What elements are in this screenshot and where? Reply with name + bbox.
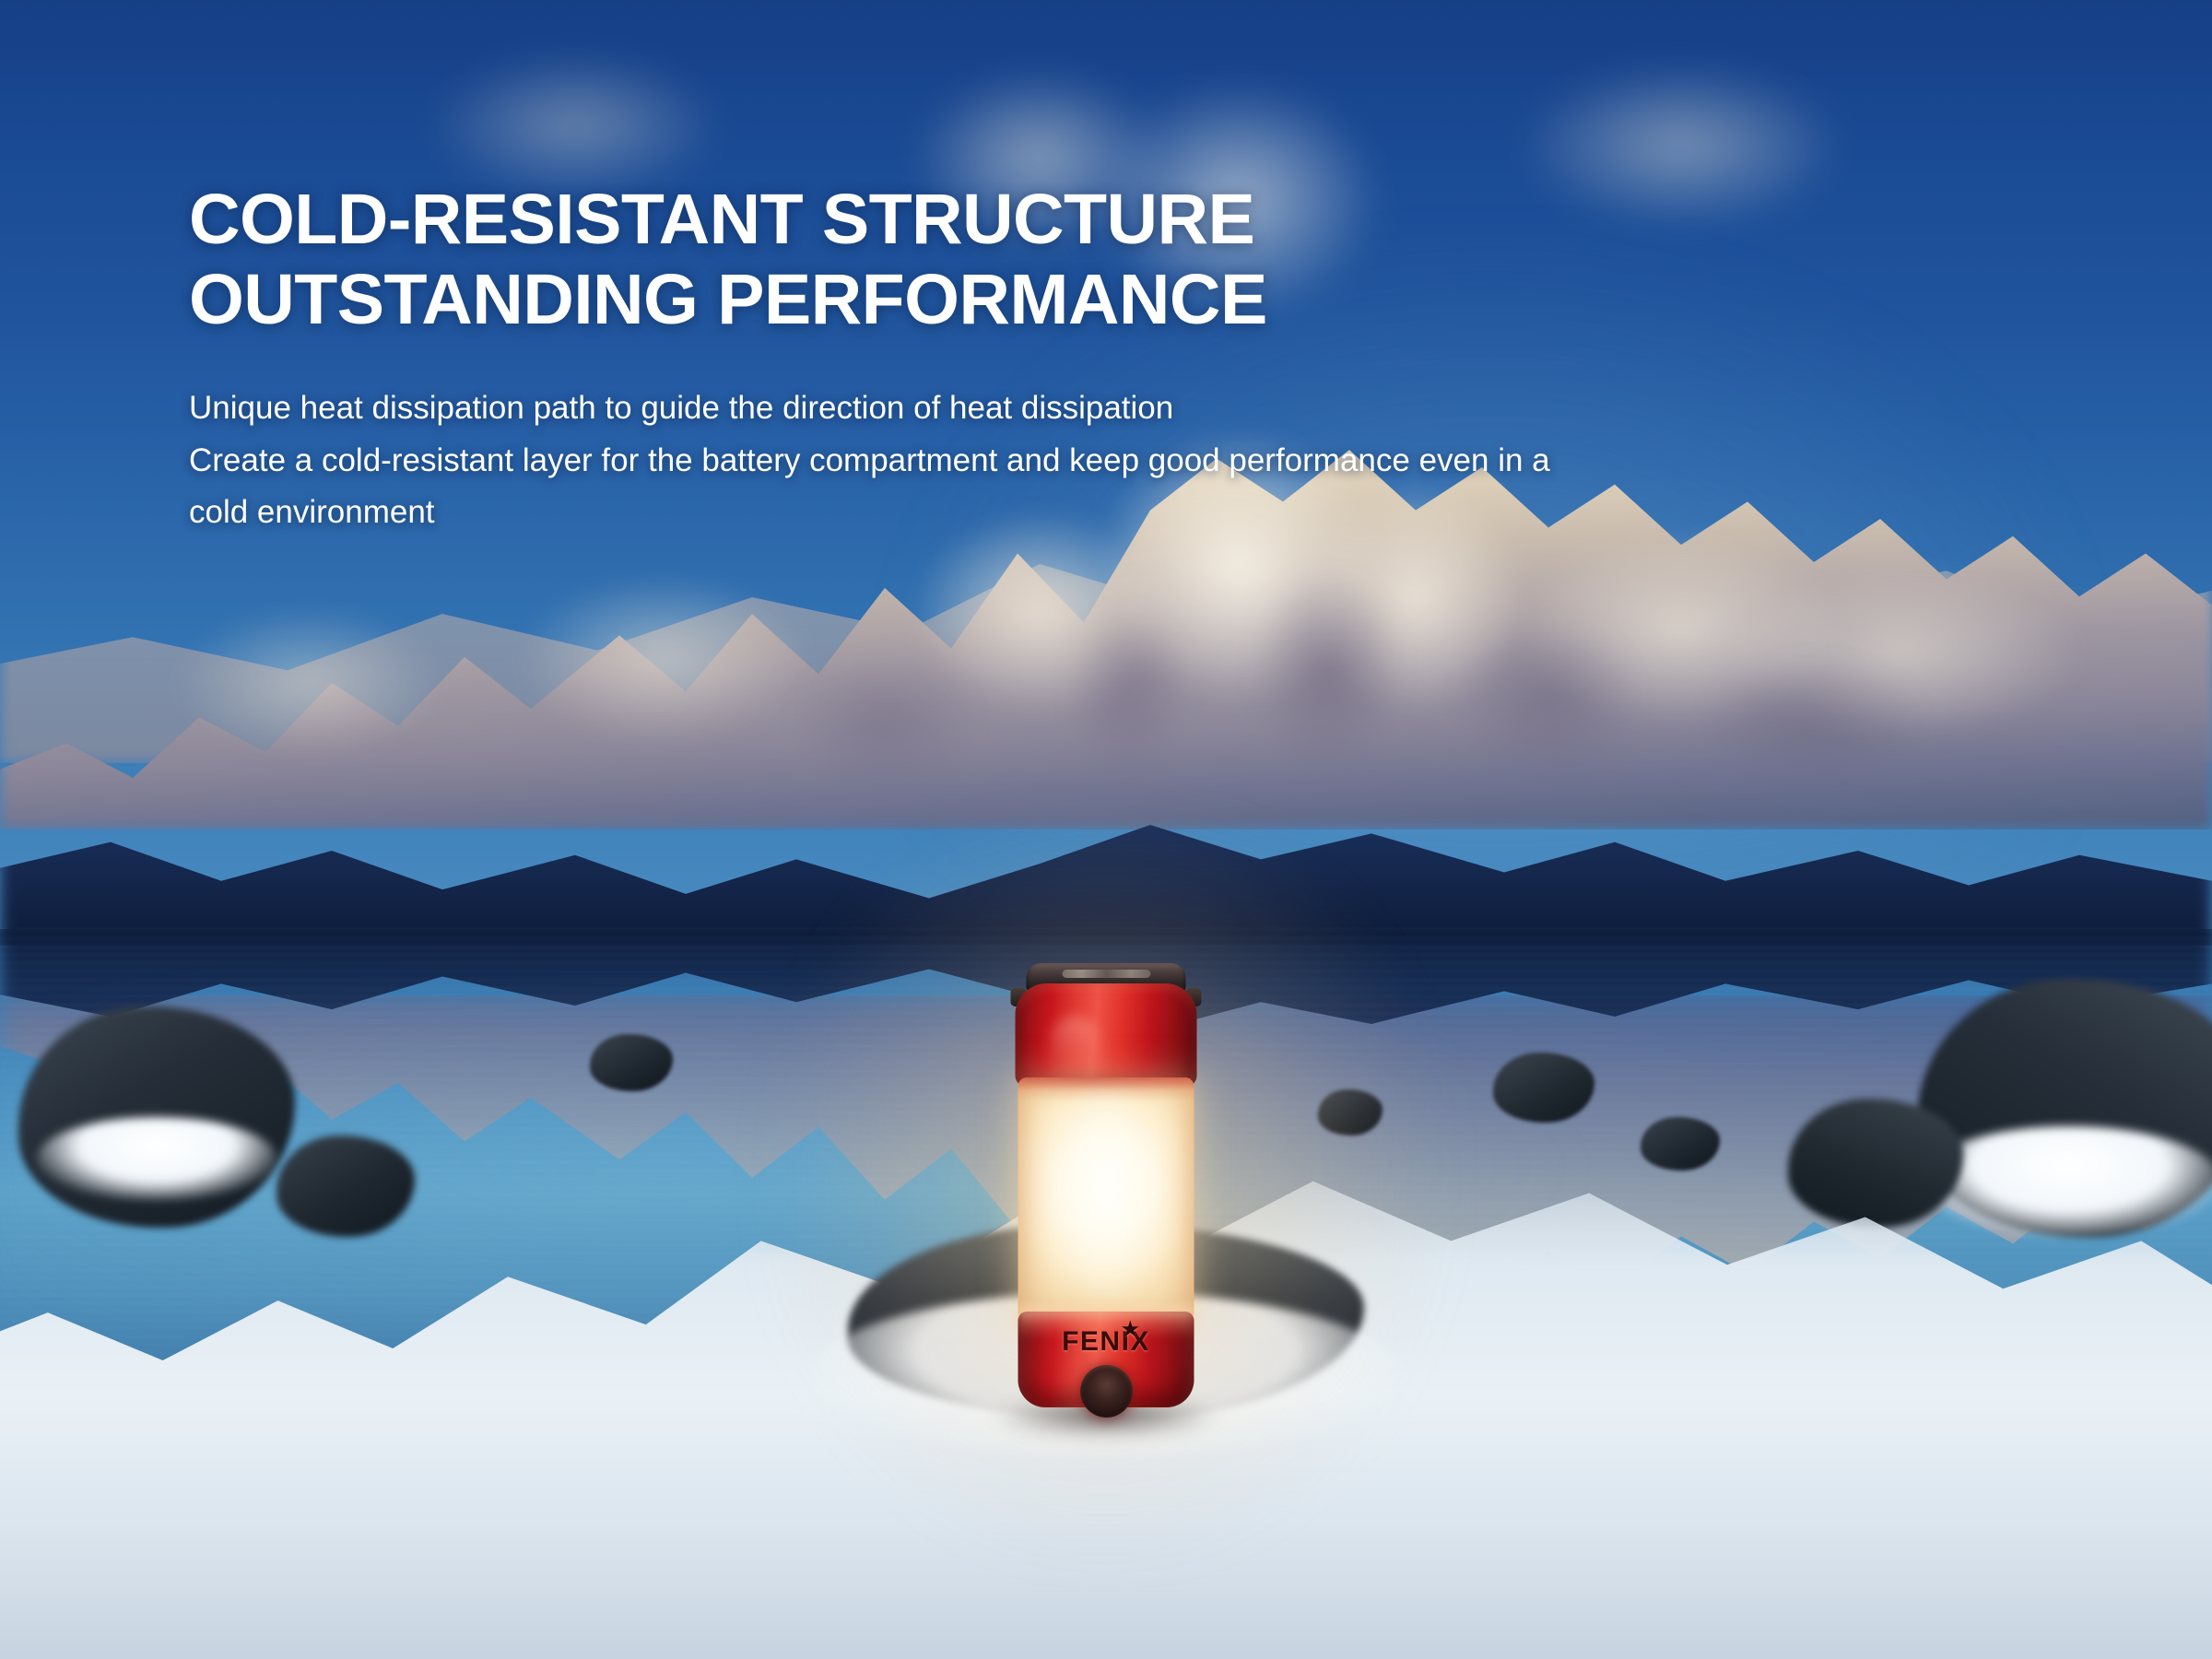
- brand-star-icon: ★: [1122, 1318, 1140, 1341]
- rock-mid-pebble-b: [1318, 1089, 1382, 1135]
- subcopy: Unique heat dissipation path to guide th…: [189, 382, 1986, 539]
- headline-line-1: COLD-RESISTANT STRUCTURE: [189, 180, 1986, 260]
- diffuser-hotspot: [1051, 1101, 1161, 1295]
- vent-grille-icon: [1062, 970, 1150, 978]
- power-button[interactable]: [1080, 1365, 1133, 1418]
- diffuser-top-tint: [1018, 1077, 1194, 1101]
- product-hero-banner: ★ FENIX COLD-RESISTANT STRUCTURE OUTSTAN…: [0, 0, 2212, 1659]
- rock-mid-pebble-a: [590, 1034, 673, 1091]
- rock-mid-pebble-c: [1493, 1053, 1594, 1123]
- headline-line-2: OUTSTANDING PERFORMANCE: [189, 260, 1986, 340]
- subcopy-line-1: Unique heat dissipation path to guide th…: [189, 382, 1986, 435]
- rock-mid-pebble-d: [1641, 1117, 1720, 1171]
- headline: COLD-RESISTANT STRUCTURE OUTSTANDING PER…: [189, 180, 1986, 340]
- brand-logo: ★ FENIX: [1003, 1326, 1210, 1358]
- lantern-red-head: [1016, 983, 1197, 1087]
- subcopy-line-3: cold environment: [189, 487, 1986, 539]
- marketing-copy: COLD-RESISTANT STRUCTURE OUTSTANDING PER…: [189, 180, 1986, 539]
- fenix-camping-lantern: ★ FENIX: [1003, 963, 1210, 1424]
- lantern-body: ★ FENIX: [1003, 963, 1210, 1424]
- rock-left-small: [276, 1135, 415, 1237]
- subcopy-line-2: Create a cold-resistant layer for the ba…: [189, 435, 1986, 488]
- snowcap-left-large: [37, 1117, 276, 1200]
